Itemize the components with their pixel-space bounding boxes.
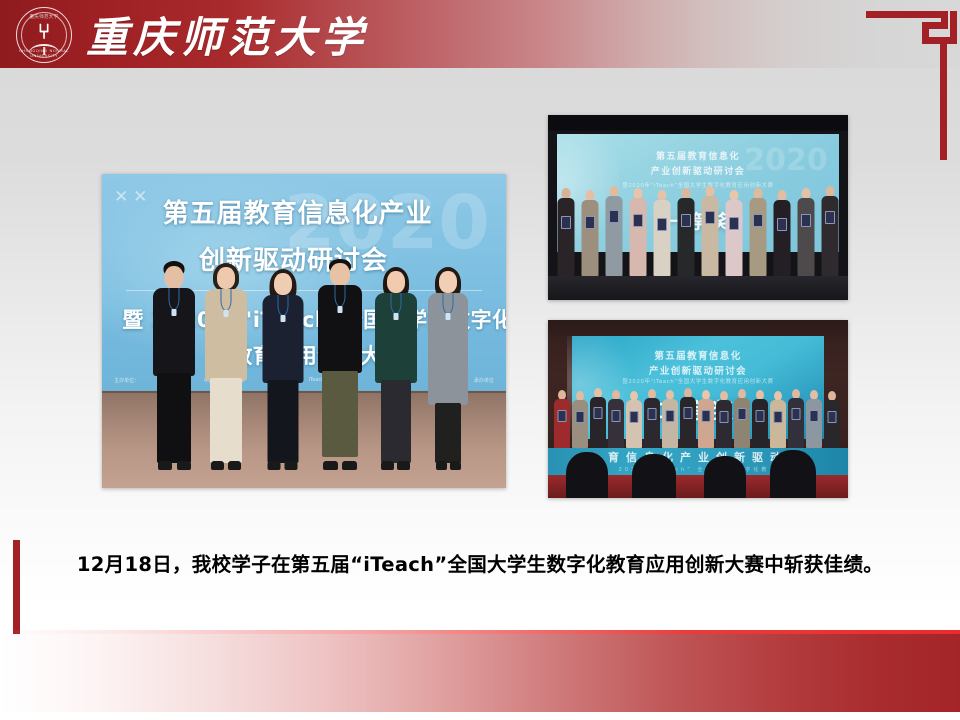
recipient-body — [725, 200, 742, 276]
person-shoes — [267, 461, 298, 470]
certificate — [774, 411, 783, 423]
audience-silhouette — [704, 456, 746, 498]
person-legs — [381, 380, 411, 463]
certificate — [576, 411, 585, 423]
seal-arc-bottom-text: CHONGQING NORMAL UNIVERSITY — [16, 48, 72, 58]
person-figure — [316, 259, 364, 469]
recipient-body — [572, 400, 588, 448]
certificate — [633, 214, 643, 227]
corner-ornament-top-right — [850, 0, 960, 160]
certificate — [558, 410, 567, 422]
certificate — [720, 411, 729, 423]
sponsor-label: 承办单位 — [474, 377, 494, 384]
certificate — [657, 218, 667, 231]
certificate — [777, 218, 787, 231]
recipient-figure — [824, 391, 840, 448]
recipient-body — [698, 399, 714, 448]
ornament-bar — [866, 11, 948, 18]
person-figure — [425, 267, 471, 469]
person-lanyard — [335, 285, 346, 307]
recipient-body — [788, 398, 804, 448]
person-head — [217, 267, 235, 289]
university-seal-icon: 重庆师范大学 ⑂ CHONGQING NORMAL UNIVERSITY — [16, 7, 72, 63]
recipient-figure — [749, 188, 766, 276]
person-legs — [322, 371, 358, 457]
recipient-body — [557, 198, 574, 276]
recipient-figure — [680, 388, 696, 448]
recipient-body — [677, 198, 694, 276]
award-ceremony-first-prize: 2020 第五届教育信息化 产业创新驱动研讨会 暨2020年“iTeach”全国… — [548, 115, 848, 300]
recipient-body — [821, 196, 838, 276]
person-head — [330, 263, 350, 286]
person-shoes — [435, 461, 461, 470]
bottom-gradient-band — [0, 634, 960, 712]
recipient-figure — [725, 190, 742, 276]
recipient-figure — [608, 390, 624, 448]
certificate — [702, 410, 711, 422]
ornament-bar — [940, 44, 947, 160]
recipient-figure — [653, 190, 670, 276]
seal-center-glyph: ⑂ — [38, 21, 51, 42]
person-shoes — [381, 461, 411, 470]
recipient-figure — [821, 186, 838, 276]
person-figure — [203, 263, 249, 469]
certificate — [585, 216, 595, 229]
person-head — [387, 271, 405, 293]
certificate — [792, 408, 801, 420]
recipient-figure — [716, 391, 732, 448]
bottom-white-strip — [0, 712, 960, 720]
recipient-figure — [581, 190, 598, 276]
person-badge — [446, 313, 451, 320]
university-name: 重庆师范大学 — [86, 8, 368, 60]
person-shoes — [210, 461, 242, 470]
certificate — [666, 410, 675, 422]
person-lanyard — [169, 288, 180, 310]
person-badge — [224, 310, 229, 317]
group-photo-team: 2020 ✕ ✕ 第五届教育信息化产业 创新驱动研讨会 暨 2020 年"iTe… — [102, 174, 506, 488]
certificate — [753, 214, 763, 227]
audience-silhouette — [566, 452, 608, 498]
recipient-body — [770, 400, 786, 448]
person-figure — [150, 261, 198, 469]
recipient-figure — [701, 186, 718, 276]
certificate — [609, 210, 619, 223]
person-legs — [435, 403, 461, 463]
recipient-figure — [698, 390, 714, 448]
recipient-figure — [605, 186, 622, 276]
recipient-body — [797, 198, 814, 276]
recipient-body — [626, 400, 642, 448]
sponsor-label: 主办单位： — [114, 377, 139, 384]
person-lanyard — [443, 293, 454, 314]
header-bar: 重庆师范大学 ⑂ CHONGQING NORMAL UNIVERSITY 重庆师… — [0, 0, 960, 68]
recipient-figure — [590, 388, 606, 448]
recipient-body — [752, 399, 768, 448]
certificate — [681, 214, 691, 227]
recipient-body — [608, 399, 624, 448]
certificate — [684, 407, 693, 419]
recipient-figure — [554, 390, 570, 448]
person-badge — [338, 306, 343, 313]
recipient-figure — [557, 188, 574, 276]
stage-floor — [548, 276, 848, 300]
recipient-figure — [752, 390, 768, 448]
certificate — [756, 410, 765, 422]
person-head — [439, 271, 457, 293]
person-head — [165, 266, 184, 289]
recipient-body — [749, 198, 766, 276]
recipient-figure — [734, 389, 750, 448]
recipient-body — [824, 400, 840, 448]
recipient-body — [590, 397, 606, 448]
person-figure — [260, 269, 306, 469]
person-lanyard — [221, 289, 232, 311]
recipient-body — [629, 198, 646, 276]
certificate — [729, 217, 739, 230]
recipient-body — [734, 398, 750, 448]
certificate — [561, 216, 571, 229]
certificate — [738, 408, 747, 420]
certificate — [825, 211, 835, 224]
recipient-body — [680, 397, 696, 448]
certificate — [828, 411, 837, 423]
recipient-figure — [788, 389, 804, 448]
recipient-figure — [806, 390, 822, 448]
backdrop-title-line1: 第五届教育信息化产业 — [163, 193, 486, 230]
award-recipients-row — [548, 381, 848, 449]
recipient-figure — [629, 188, 646, 276]
award-ceremony-second-prize: 第五届教育信息化 产业创新驱动研讨会 暨2020年“iTeach”全国大学生数字… — [548, 320, 848, 498]
backdrop-decoration-icon: ✕ ✕ — [114, 187, 147, 207]
person-head — [274, 273, 292, 295]
certificate — [801, 214, 811, 227]
recipient-body — [806, 399, 822, 448]
person-legs — [210, 378, 242, 463]
certificate — [648, 408, 657, 420]
recipient-body — [716, 400, 732, 448]
certificate — [810, 410, 819, 422]
certificate — [630, 411, 639, 423]
recipient-body — [605, 196, 622, 276]
person-lanyard — [390, 293, 401, 314]
award-recipients-row — [548, 172, 848, 276]
screen-title-line1: 第五届教育信息化 — [572, 348, 824, 362]
recipient-figure — [773, 190, 790, 276]
recipient-body — [662, 399, 678, 448]
slide-caption: 12月18日，我校学子在第五届“iTeach”全国大学生数字化教育应用创新大赛中… — [0, 548, 960, 577]
recipient-body — [773, 200, 790, 276]
recipient-body — [644, 398, 660, 448]
person-lanyard — [277, 295, 288, 316]
slide-canvas: 重庆师范大学 ⑂ CHONGQING NORMAL UNIVERSITY 重庆师… — [0, 0, 960, 720]
recipient-body — [701, 196, 718, 276]
person-shoes — [157, 461, 191, 470]
audience-silhouette — [770, 450, 816, 498]
recipient-figure — [677, 188, 694, 276]
audience-silhouette — [632, 454, 676, 498]
certificate — [705, 211, 715, 224]
recipient-body — [653, 200, 670, 276]
recipient-body — [581, 200, 598, 276]
person-badge — [280, 315, 285, 322]
recipient-figure — [770, 391, 786, 448]
person-shoes — [322, 461, 358, 470]
certificate — [612, 410, 621, 422]
person-legs — [157, 373, 191, 463]
person-badge — [172, 309, 177, 316]
recipient-figure — [626, 391, 642, 448]
recipient-figure — [572, 391, 588, 448]
recipient-figure — [644, 389, 660, 448]
person-figure — [373, 267, 419, 469]
screen-title-line1: 第五届教育信息化 — [557, 149, 839, 162]
person-badge — [393, 313, 398, 320]
recipient-figure — [662, 390, 678, 448]
certificate — [594, 407, 603, 419]
screen-title-line2: 产业创新驱动研讨会 — [572, 363, 824, 377]
person-legs — [267, 380, 298, 463]
recipient-figure — [797, 188, 814, 276]
ornament-bar — [950, 11, 957, 44]
recipient-body — [554, 399, 570, 448]
